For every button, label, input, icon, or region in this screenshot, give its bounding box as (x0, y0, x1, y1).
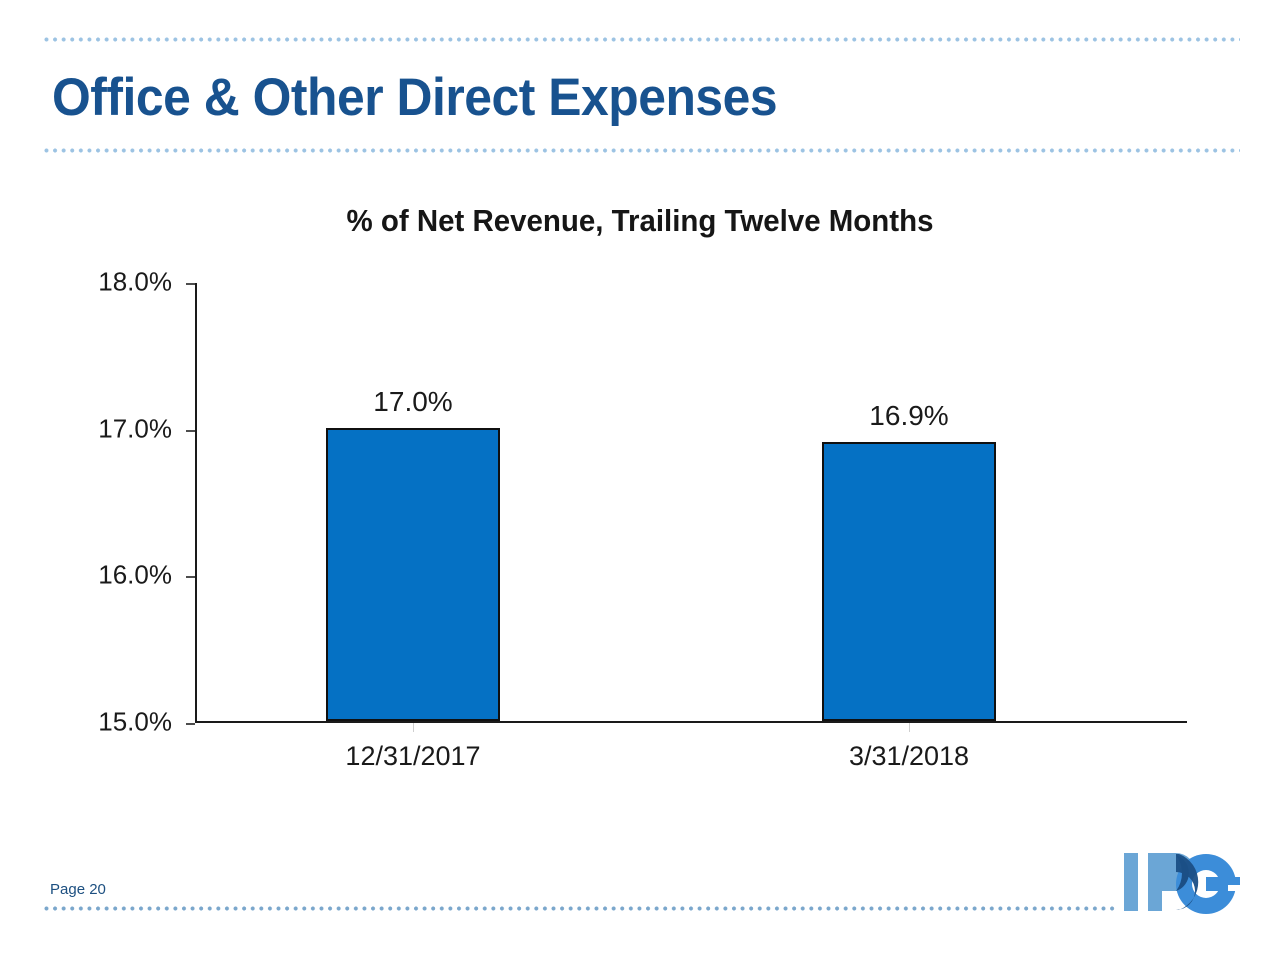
page-title: Office & Other Direct Expenses (52, 70, 777, 126)
bar (822, 442, 996, 721)
y-axis-tick-label: 16.0% (98, 560, 172, 591)
x-axis-tick (909, 723, 910, 732)
bar-chart: % of Net Revenue, Trailing Twelve Months… (0, 185, 1280, 805)
y-axis-tick: 18.0% (186, 283, 195, 285)
x-axis-line (195, 721, 1187, 723)
y-axis-line (195, 283, 197, 723)
title-underline-dotted-rule (44, 148, 1240, 153)
chart-title: % of Net Revenue, Trailing Twelve Months (32, 203, 1248, 239)
x-axis-category-label: 3/31/2018 (849, 741, 969, 772)
y-axis-tick: 17.0% (186, 430, 195, 432)
footer-dotted-rule (44, 906, 1116, 911)
y-axis-tick-label: 15.0% (98, 707, 172, 738)
page-number: Page 20 (50, 881, 106, 898)
x-axis-tick (413, 723, 414, 732)
plot-area: 18.0%17.0%16.0%15.0% 17.0%12/31/201716.9… (195, 283, 1187, 723)
bar (326, 428, 500, 721)
slide: Office & Other Direct Expenses % of Net … (0, 0, 1280, 960)
y-axis-tick-label: 17.0% (98, 413, 172, 444)
ipg-logo (1122, 849, 1244, 915)
top-dotted-rule (44, 37, 1240, 42)
y-axis-tick-label: 18.0% (98, 267, 172, 298)
x-axis-category-label: 12/31/2017 (345, 741, 480, 772)
y-axis-tick: 16.0% (186, 576, 195, 578)
y-axis-tick: 15.0% (186, 723, 195, 725)
bar-value-label: 17.0% (373, 386, 452, 418)
bar-value-label: 16.9% (869, 400, 948, 432)
